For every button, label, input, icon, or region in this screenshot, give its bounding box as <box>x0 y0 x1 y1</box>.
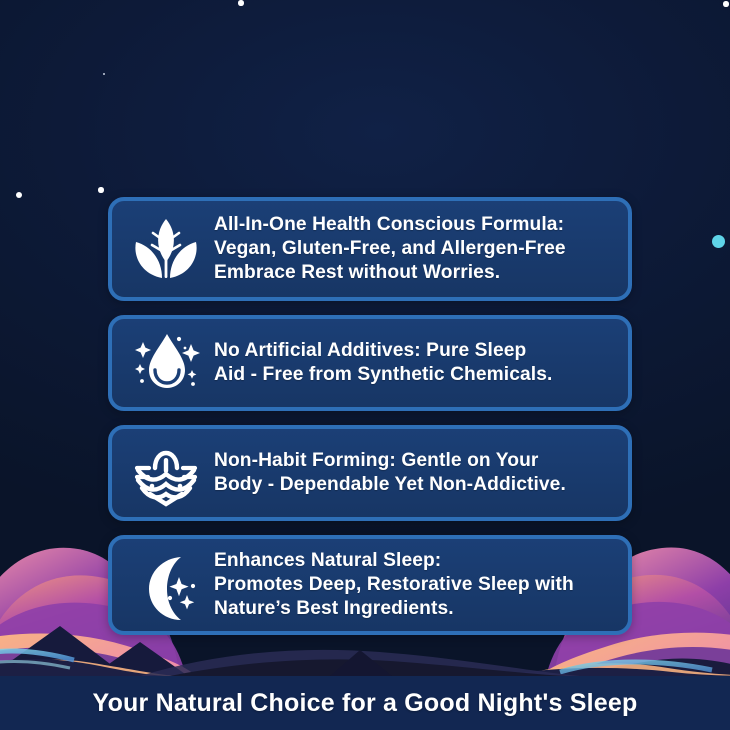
benefit-card-no-additives[interactable]: No Artificial Additives: Pure Sleep Aid … <box>108 315 632 411</box>
waves-lotus-icon <box>124 431 208 515</box>
benefit-card-text: No Artificial Additives: Pure Sleep Aid … <box>214 339 552 387</box>
tagline-banner: Your Natural Choice for a Good Night's S… <box>0 676 730 730</box>
benefit-card-all-in-one-formula[interactable]: All-In-One Health Conscious Formula: Veg… <box>108 197 632 301</box>
star-1 <box>98 187 103 192</box>
benefit-card-text: All-In-One Health Conscious Formula: Veg… <box>214 213 566 286</box>
leaf-icon <box>124 207 208 291</box>
benefit-card-text: Enhances Natural Sleep: Promotes Deep, R… <box>214 549 574 622</box>
accent-dot <box>712 235 725 248</box>
scenery-center <box>140 650 580 676</box>
star-3 <box>723 1 728 6</box>
sleep-supplement-benefits-poster: All-In-One Health Conscious Formula: Veg… <box>0 0 730 730</box>
benefit-card-list: All-In-One Health Conscious Formula: Veg… <box>108 197 632 649</box>
crescent-moon-stars-icon <box>124 543 208 627</box>
benefit-card-text: Non-Habit Forming: Gentle on Your Body -… <box>214 449 566 497</box>
star-0 <box>16 192 22 198</box>
benefit-card-enhances-natural-sleep[interactable]: Enhances Natural Sleep: Promotes Deep, R… <box>108 535 632 635</box>
star-4 <box>103 73 106 76</box>
star-2 <box>238 0 243 5</box>
benefit-card-non-habit-forming[interactable]: Non-Habit Forming: Gentle on Your Body -… <box>108 425 632 521</box>
tagline-text: Your Natural Choice for a Good Night's S… <box>93 689 638 718</box>
water-droplet-sparkle-icon <box>124 321 208 405</box>
